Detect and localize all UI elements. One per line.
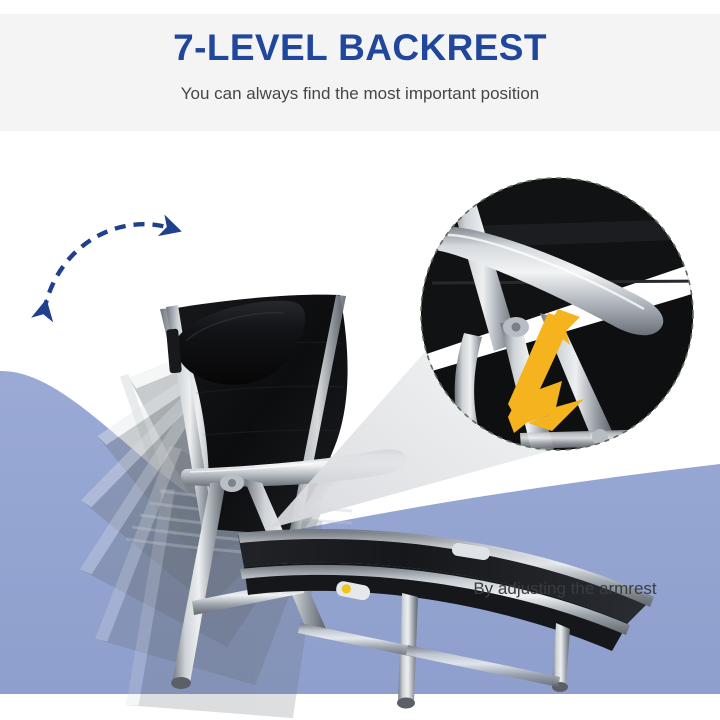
recline-range-arrow [44,224,170,311]
product-scene: By adjusting the armrest [0,131,720,720]
page-title: 7-LEVEL BACKREST [0,27,720,69]
page-subtitle: You can always find the most important p… [0,84,720,104]
scene-illustration [0,131,720,720]
product-feature-banner: 7-LEVEL BACKREST You can always find the… [0,0,720,720]
callout-caption: By adjusting the armrest [430,579,700,599]
